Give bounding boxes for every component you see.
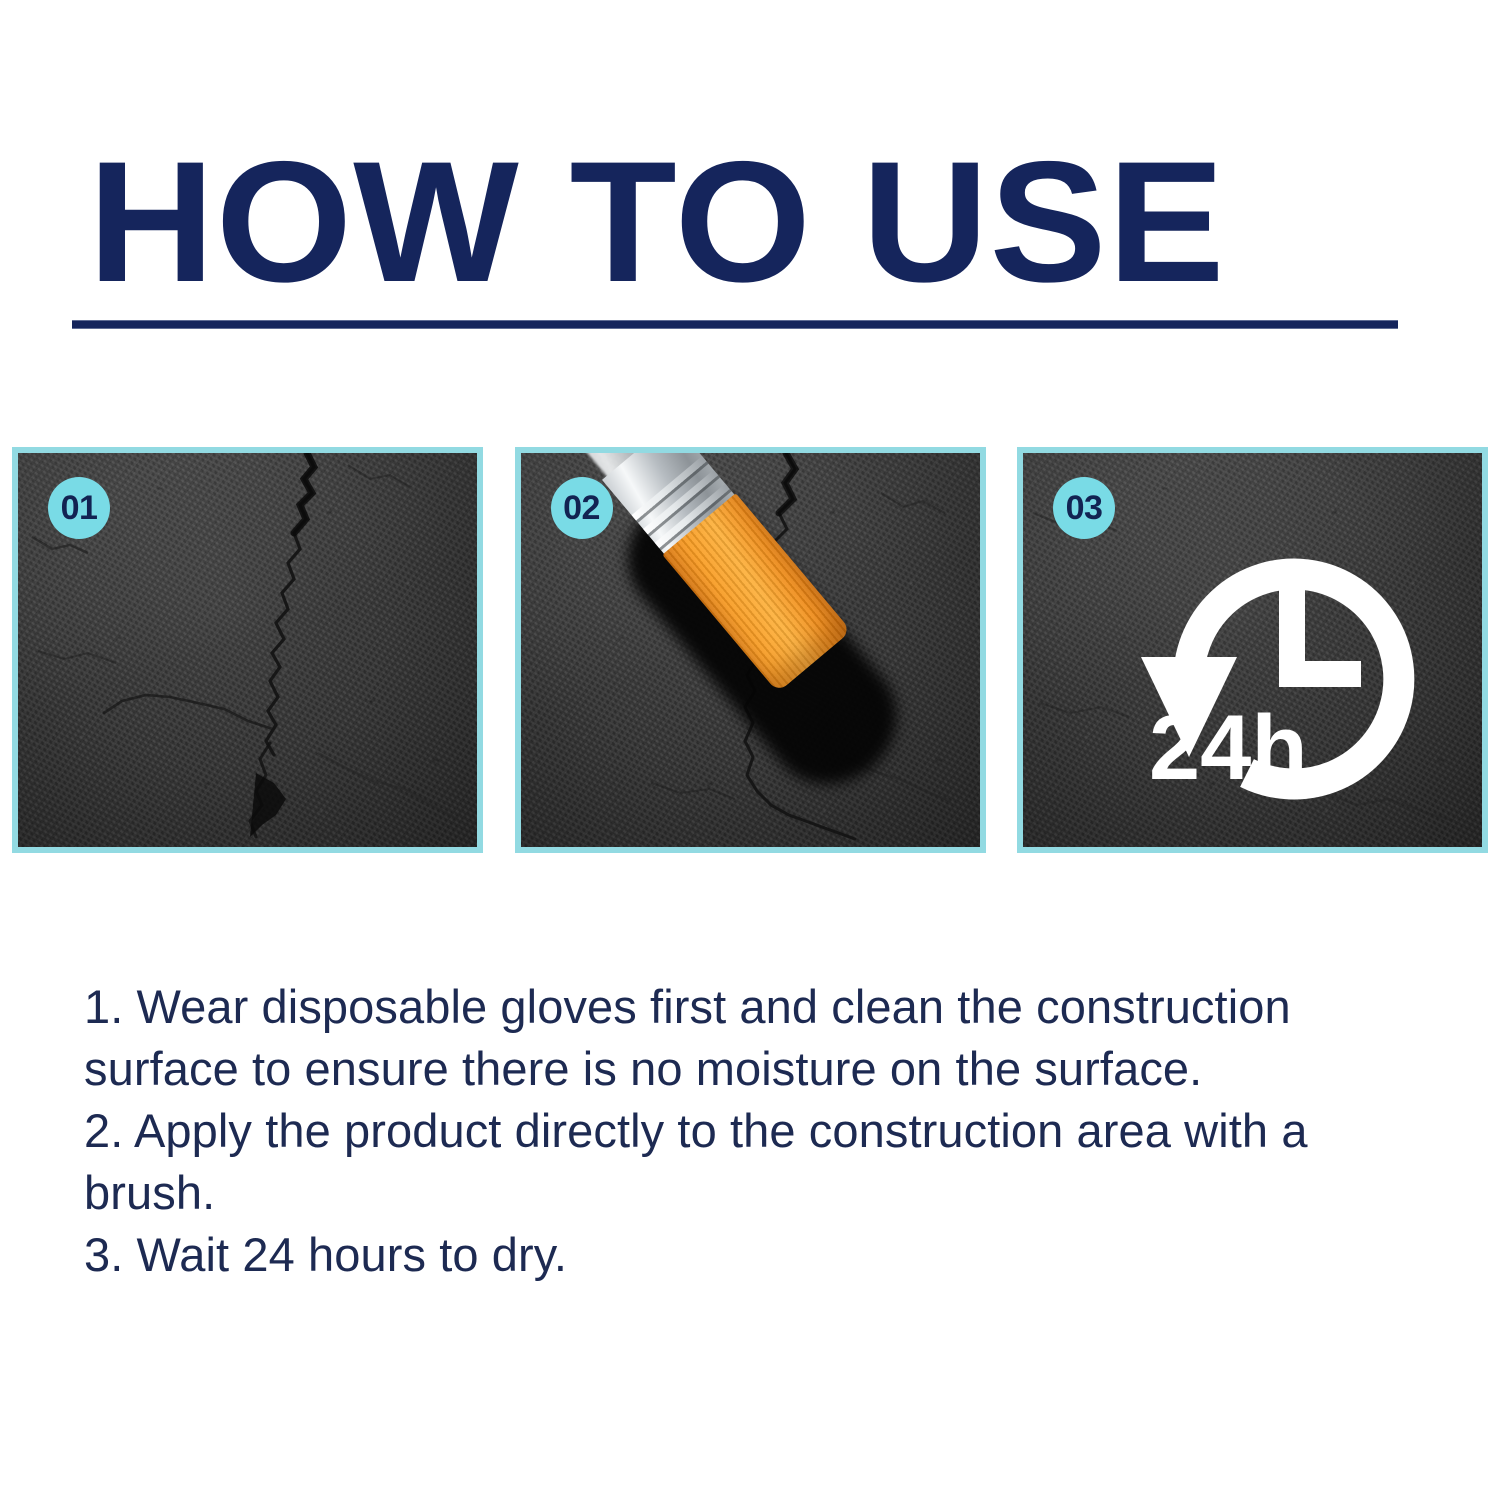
instruction-line: brush. <box>84 1162 1444 1224</box>
step-badge-03: 03 <box>1053 477 1115 539</box>
step-panels-row: 01 02 <box>12 447 1488 853</box>
step-badge-02: 02 <box>551 477 613 539</box>
drying-time-clock-icon: 24h <box>1119 489 1449 819</box>
step-panel-03: 24h 03 <box>1017 447 1488 853</box>
clock-duration-label: 24h <box>1149 697 1308 799</box>
step-panel-01: 01 <box>12 447 483 853</box>
step-panel-02: 02 <box>515 447 986 853</box>
step-badge-01: 01 <box>48 477 110 539</box>
instruction-line: 1. Wear disposable gloves first and clea… <box>84 976 1444 1038</box>
title-underline-rule <box>72 320 1398 329</box>
instruction-line: surface to ensure there is no moisture o… <box>84 1038 1444 1100</box>
instruction-line: 2. Apply the product directly to the con… <box>84 1100 1444 1162</box>
page-title: HOW TO USE <box>88 136 1226 308</box>
instructions-block: 1. Wear disposable gloves first and clea… <box>84 976 1444 1286</box>
instruction-line: 3. Wait 24 hours to dry. <box>84 1224 1444 1286</box>
